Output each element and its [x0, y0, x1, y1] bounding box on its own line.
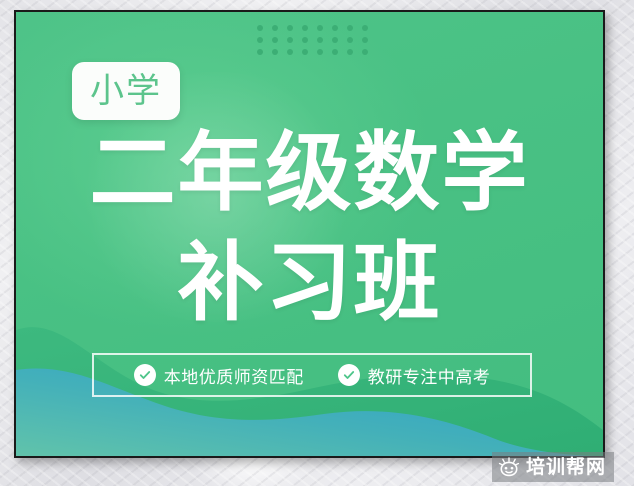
poster-title-line-1: 二年级数学: [16, 130, 603, 216]
site-watermark: 培训帮网: [492, 452, 614, 482]
grade-level-badge-label: 小学: [90, 74, 162, 108]
dot-grid-icon: [252, 22, 372, 58]
check-circle-icon: [338, 364, 360, 386]
smiling-sun-face-icon: [498, 457, 520, 477]
feature-item-1: 本地优质师资匹配: [134, 363, 304, 388]
feature-item-2-label: 教研专注中高考: [368, 363, 491, 388]
poster-title-line-2: 补习班: [16, 240, 603, 326]
grade-level-badge: 小学: [72, 62, 180, 120]
feature-highlight-box: 本地优质师资匹配 教研专注中高考: [92, 353, 532, 397]
site-watermark-text: 培训帮网: [526, 458, 606, 477]
feature-item-2: 教研专注中高考: [338, 363, 491, 388]
course-poster-card: 小学 二年级数学 补习班 本地优质师资匹配 教研专注中高考: [14, 10, 605, 458]
feature-item-1-label: 本地优质师资匹配: [164, 363, 304, 388]
check-circle-icon: [134, 364, 156, 386]
